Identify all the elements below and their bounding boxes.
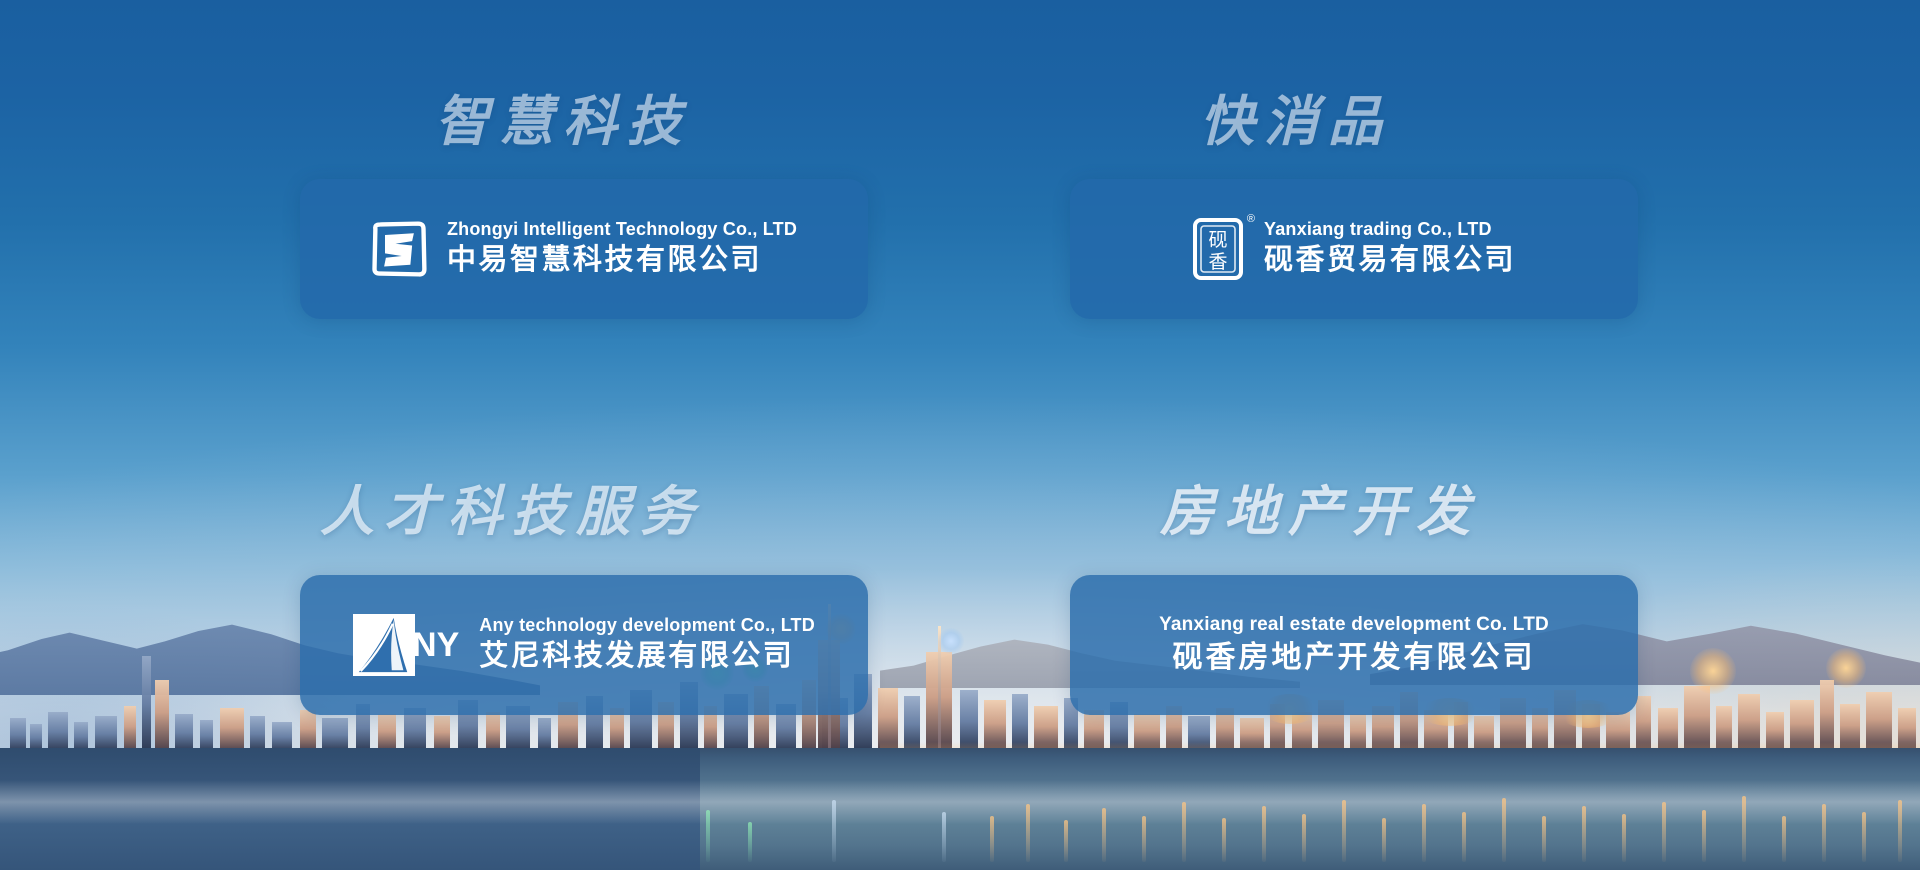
any-logo-text: NY [412, 628, 459, 662]
segment-real-estate-development: 房地产开发 Yanxiang real estate development C… [1070, 485, 1638, 715]
company-name-cn: 砚香房地产开发有限公司 [1173, 638, 1536, 677]
company-name-cn: 中易智慧科技有限公司 [447, 242, 797, 280]
any-mountain-logo: NY [353, 614, 459, 676]
segment-talent-technology-services: 人才科技服务 NY Any technology develo [300, 485, 868, 715]
seal-glyph-top: 砚 [1208, 229, 1227, 251]
zhongyi-z-logo [371, 221, 427, 277]
registered-trademark-icon: ® [1247, 214, 1255, 225]
company-name-en: Yanxiang trading Co., LTD [1264, 218, 1516, 241]
segment-title-real-estate-development: 房地产开发 [1160, 485, 1638, 539]
company-card-any[interactable]: NY Any technology development Co., LTD 艾… [300, 575, 868, 715]
company-name-en: Yanxiang real estate development Co. LTD [1159, 613, 1549, 637]
segment-smart-technology: 智慧科技 Zhongyi Intelligent Technology Co.,… [300, 95, 868, 319]
segment-title-talent-technology-services: 人才科技服务 [320, 485, 868, 539]
company-name-en: Zhongyi Intelligent Technology Co., LTD [447, 218, 797, 241]
company-name-cn: 艾尼科技发展有限公司 [479, 638, 815, 676]
company-card-yanxiang-trading[interactable]: 砚 香 ® Yanxiang trading Co., LTD 砚香贸易有限公司 [1070, 179, 1638, 319]
company-name-cn: 砚香贸易有限公司 [1264, 242, 1516, 280]
company-card-zhongyi[interactable]: Zhongyi Intelligent Technology Co., LTD … [300, 179, 868, 319]
segment-title-fmcg: 快消品 [1200, 95, 1638, 149]
segment-title-smart-technology: 智慧科技 [435, 95, 868, 149]
yanxiang-seal-logo: 砚 香 ® [1192, 217, 1244, 281]
business-segments-grid: 智慧科技 Zhongyi Intelligent Technology Co.,… [0, 0, 1920, 870]
seal-glyph-bottom: 香 [1208, 251, 1227, 273]
company-card-yanxiang-real-estate[interactable]: Yanxiang real estate development Co. LTD… [1070, 575, 1638, 715]
company-name-en: Any technology development Co., LTD [479, 614, 815, 637]
segment-fmcg: 快消品 砚 香 ® Yanxiang trading Co., L [1070, 95, 1638, 319]
